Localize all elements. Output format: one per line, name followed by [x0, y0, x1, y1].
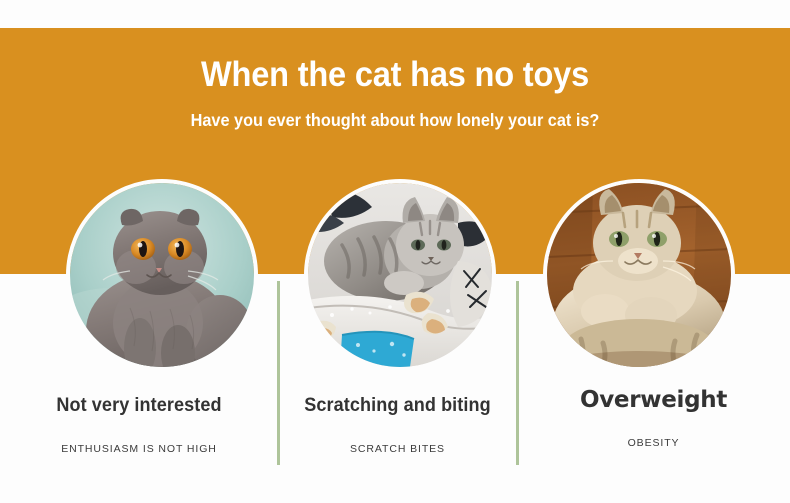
- column-divider-1: [277, 281, 280, 465]
- poster-canvas: When the cat has no toys Have you ever t…: [0, 0, 790, 503]
- column-caption-1: Not very interested ENTHUSIASM IS NOT HI…: [0, 394, 278, 456]
- column-title-1: Not very interested: [7, 394, 271, 418]
- column-title-2: Scratching and biting: [284, 394, 511, 418]
- tabby-cat-on-torn-sofa-photo: [308, 183, 492, 367]
- column-subtitle-3: OBESITY: [517, 436, 790, 450]
- column-subtitle-2: SCRATCH BITES: [278, 442, 517, 456]
- column-title-3: Overweight: [517, 388, 790, 412]
- column-caption-2: Scratching and biting SCRATCH BITES: [278, 394, 517, 456]
- page-title: When the cat has no toys: [28, 28, 763, 95]
- column-caption-3: Overweight OBESITY: [517, 388, 790, 450]
- column-divider-2: [516, 281, 519, 465]
- header-block: When the cat has no toys Have you ever t…: [0, 28, 790, 131]
- grey-scottish-fold-cat-photo: [70, 183, 254, 367]
- column-subtitle-1: ENTHUSIASM IS NOT HIGH: [0, 442, 278, 456]
- overweight-tabby-cat-photo: [547, 183, 731, 367]
- page-subtitle: Have you ever thought about how lonely y…: [28, 95, 763, 131]
